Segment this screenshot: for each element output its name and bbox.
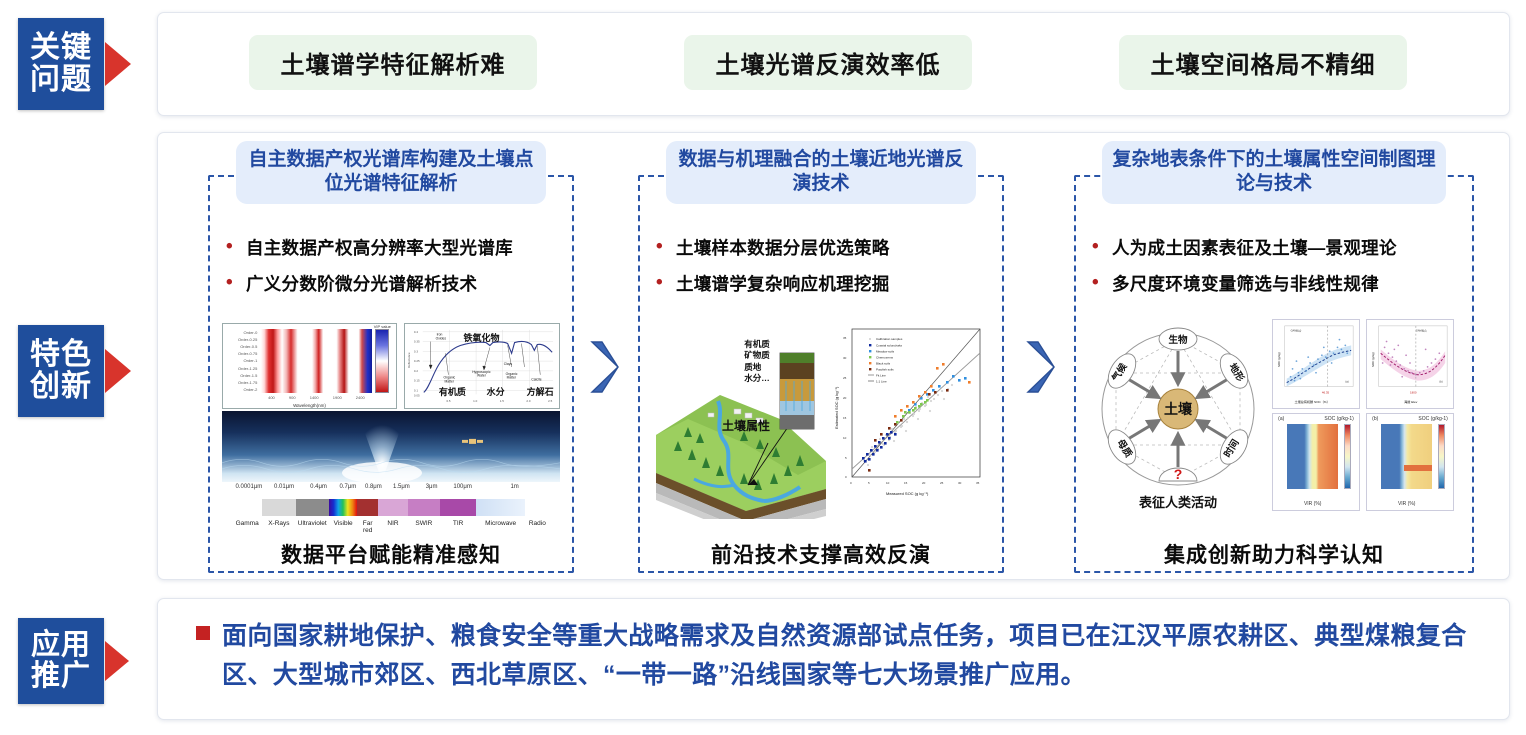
spectrum-annotation-organic-cn: 有机质 — [439, 385, 466, 398]
landscape-block-figure: 有机质 矿物质 质地 水分… 土壤属性 — [648, 323, 833, 519]
svg-text:25: 25 — [843, 376, 847, 380]
key-problem-pill-1[interactable]: 土壤谱学特征解析难 — [249, 35, 537, 90]
key-problem-label-2: 土壤光谱反演效率低 — [716, 45, 941, 80]
svg-text:Black soils: Black soils — [876, 361, 891, 365]
vip-x-ticks: 400900140019002400 — [261, 393, 372, 402]
innovation-column-2: 数据与机理融合的土壤近地光谱反演技术 • 土壤样本数据分层优选策略 • 土壤谱学… — [638, 141, 1004, 573]
svg-text:GAM拟合: GAM拟合 — [1291, 329, 1302, 333]
heatmap-left-tag: (a) — [1278, 416, 1284, 422]
svg-text:(b): (b) — [1439, 380, 1442, 384]
rail-innovation-box: 特色 创新 — [18, 325, 104, 417]
svg-text:SOC (g/kg): SOC (g/kg) — [1277, 352, 1281, 367]
gam-left-svg: 46.35 (a) GAM拟合 土壤总有机碳 SOC（%） SOC (g/kg) — [1273, 320, 1359, 408]
heatmap-right-xlabel: VIR (%) — [1398, 501, 1416, 507]
innovation-card: 自主数据产权光谱库构建及土壤点位光谱特征解析 • 自主数据产权高分辨率大型光谱库… — [157, 132, 1510, 580]
svg-text:35: 35 — [976, 481, 980, 485]
svg-text:1.0: 1.0 — [473, 399, 477, 403]
gam-plot-right: 1800 (b) GAM拟合 海拔 Elev SOC (g/kg) — [1366, 319, 1454, 409]
vip-y-ticks: Order-0Order-0.25Order-0.5Order-0.75 Ord… — [226, 329, 259, 393]
application-card: 面向国家耕地保护、粮食安全等重大战略需求及自然资源部试点任务，项目已在江汉平原农… — [157, 598, 1510, 720]
svg-text:1800: 1800 — [1410, 390, 1417, 394]
svg-text:GAM拟合: GAM拟合 — [1416, 329, 1427, 333]
svg-text:30: 30 — [958, 481, 962, 485]
spectrum-annotation-water-cn: 水分 — [487, 385, 505, 398]
svg-text:0: 0 — [850, 481, 852, 485]
bullet-dot-icon: • — [656, 237, 663, 256]
soc-heatmap-left: SOC (g/kg-1) (a) VIR (%) — [1272, 413, 1360, 511]
column-1-footer: 数据平台赋能精准感知 — [216, 539, 566, 569]
svg-text:Calcite: Calcite — [531, 378, 541, 382]
hex-caption: 表征人类活动 — [1138, 495, 1217, 510]
column-1-bullet-2: • 广义分数阶微分光谱解析技术 — [226, 271, 560, 296]
rail-application-line2: 推广 — [31, 661, 91, 692]
svg-text:Calibration samples: Calibration samples — [876, 337, 903, 341]
em-color-band — [232, 499, 550, 516]
rail-innovation: 特色 创新 — [18, 325, 131, 417]
heatmap-left-xlabel: VIR (%) — [1304, 501, 1322, 507]
heatmap-right-cb-label: SOC (g/kg-1) — [1418, 416, 1447, 422]
soil-core-label-2: 矿物质 — [744, 350, 770, 361]
svg-text:Oxides: Oxides — [436, 337, 447, 341]
column-3-bullet-text-2: 多尺度环境变量筛选与非线性规律 — [1112, 271, 1379, 296]
svg-text:46.35: 46.35 — [1322, 390, 1330, 394]
svg-text:Clays: Clays — [504, 362, 513, 366]
innovation-column-1: 自主数据产权光谱库构建及土壤点位光谱特征解析 • 自主数据产权高分辨率大型光谱库… — [208, 141, 574, 573]
rail-innovation-line2: 创新 — [30, 371, 92, 403]
slide-root: 关键 问题 土壤谱学特征解析难 土壤光谱反演效率低 土壤空间格局不精细 特色 创… — [0, 0, 1526, 735]
spectrum-annotation-calcite-cn: 方解石 — [527, 385, 554, 398]
promotion-text: 面向国家耕地保护、粮食安全等重大战略需求及自然资源部试点任务，项目已在江汉平原农… — [222, 617, 1483, 695]
svg-text:Chernozems: Chernozems — [876, 355, 894, 359]
chevron-right-icon-2 — [1024, 339, 1058, 395]
bullet-dot-icon: • — [1092, 237, 1099, 256]
svg-text:0: 0 — [845, 475, 847, 479]
svg-text:10: 10 — [886, 481, 890, 485]
svg-text:10: 10 — [843, 436, 847, 440]
svg-text:Matter: Matter — [444, 380, 454, 384]
heatmap-right-tag: (b) — [1372, 416, 1378, 422]
column-1-bullet-1: • 自主数据产权高分辨率大型光谱库 — [226, 235, 560, 260]
svg-text:Reflectance: Reflectance — [407, 352, 411, 368]
gam-right-svg: 1800 (b) GAM拟合 海拔 Elev SOC (g/kg) — [1367, 320, 1453, 408]
arrow-right-icon — [105, 42, 131, 86]
rail-application-line1: 应用 — [31, 630, 91, 661]
svg-text:30: 30 — [843, 356, 847, 360]
promotion-block: 面向国家耕地保护、粮食安全等重大战略需求及自然资源部试点任务，项目已在江汉平原农… — [196, 617, 1483, 695]
bullet-dot-icon: • — [226, 273, 233, 292]
column-2-bullet-2: • 土壤谱学复杂响应机理挖掘 — [656, 271, 990, 296]
heatmap-right-hot-stripe — [1404, 465, 1432, 471]
vip-colorbar — [375, 329, 389, 393]
arrow-right-icon — [105, 641, 129, 681]
key-problem-label-3: 土壤空间格局不精细 — [1151, 45, 1376, 80]
chevron-right-icon-1 — [588, 339, 622, 395]
rail-innovation-line1: 特色 — [30, 339, 92, 371]
bullet-dot-icon: • — [1092, 273, 1099, 292]
svg-text:0.4: 0.4 — [414, 330, 418, 334]
svg-text:0.5: 0.5 — [446, 399, 450, 403]
bullet-dot-icon: • — [226, 237, 233, 256]
bullet-dot-icon: • — [656, 273, 663, 292]
square-bullet-icon — [196, 626, 210, 640]
column-3-bullet-1: • 人为成土因素表征及土壤—景观理论 — [1092, 235, 1460, 260]
svg-text:0.35: 0.35 — [414, 340, 420, 344]
gam-plot-left: 46.35 (a) GAM拟合 土壤总有机碳 SOC（%） SOC (g/kg) — [1272, 319, 1360, 409]
rail-key-problem-box: 关键 问题 — [18, 18, 104, 110]
column-3-bullet-2: • 多尺度环境变量筛选与非线性规律 — [1092, 271, 1460, 296]
column-3-bullet-text-1: 人为成土因素表征及土壤—景观理论 — [1112, 235, 1397, 260]
soil-attribute-label: 土壤属性 — [722, 417, 770, 434]
svg-text:土壤总有机碳 SOC（%）: 土壤总有机碳 SOC（%） — [1295, 399, 1330, 404]
soil-core-label-4: 水分… — [744, 373, 770, 384]
spectrum-annotation-iron-cn: 铁氧化物 — [464, 331, 500, 344]
column-1-title: 自主数据产权光谱库构建及土壤点位光谱特征解析 — [236, 141, 546, 204]
svg-text:0.2: 0.2 — [414, 369, 418, 373]
rail-key-problem-line2: 问题 — [30, 64, 92, 96]
hex-unknown-marker: ? — [1174, 466, 1183, 482]
vip-x-label: Wavelength(nm) — [293, 403, 326, 408]
soil-factor-svg: 土壤 生物 地形 时间 气候 母质 ? 表征人类活动 — [1088, 317, 1268, 517]
svg-text:1:1 Line: 1:1 Line — [876, 379, 887, 383]
heatmap-left-colorbar — [1344, 424, 1351, 489]
svg-text:0.25: 0.25 — [414, 359, 420, 363]
hex-center-label: 土壤 — [1164, 401, 1193, 417]
heatmap-left-plot — [1287, 424, 1339, 489]
svg-text:35: 35 — [843, 336, 847, 340]
column-1-bullet-text-2: 广义分数阶微分光谱解析技术 — [246, 271, 477, 296]
column-2-bullet-text-2: 土壤谱学复杂响应机理挖掘 — [676, 271, 890, 296]
arrow-right-icon — [105, 349, 131, 393]
svg-text:5: 5 — [868, 481, 870, 485]
innovation-column-3: 复杂地表条件下的土壤属性空间制图理论与技术 • 人为成土因素表征及土壤—景观理论… — [1074, 141, 1474, 573]
soc-heatmap-right: SOC (g/kg-1) (b) VIR (%) — [1366, 413, 1454, 511]
svg-text:1.5: 1.5 — [500, 399, 504, 403]
em-wavelength-ticks: 0.0001μm0.01μm0.4μm 0.7μm0.8μm1.5μm 3μm1… — [232, 484, 550, 490]
column-2-bullet-text-1: 土壤样本数据分层优选策略 — [676, 235, 890, 260]
svg-text:海拔 Elev: 海拔 Elev — [1404, 399, 1418, 404]
column-3-footer: 集成创新助力科学认知 — [1082, 539, 1466, 569]
rail-key-problem: 关键 问题 — [18, 18, 131, 110]
svg-text:20: 20 — [843, 396, 847, 400]
heatmap-left-cb-label: SOC (g/kg-1) — [1324, 416, 1353, 422]
svg-text:15: 15 — [843, 416, 847, 420]
rail-key-problem-line1: 关键 — [30, 32, 92, 64]
spectral-curve-figure: IronOxides OrganicMatter HygroscopicWate… — [404, 323, 560, 409]
scatter-x-axis-label: Measured SOC (g kg⁻¹) — [886, 491, 929, 496]
svg-text:SOC (g/kg): SOC (g/kg) — [1371, 352, 1375, 367]
column-2-bullet-1: • 土壤样本数据分层优选策略 — [656, 235, 990, 260]
svg-text:0.15: 0.15 — [414, 379, 420, 383]
scatter-y-axis-label: Estimated SOC (g kg⁻¹) — [834, 386, 839, 429]
vip-heatmap-figure: Order-0Order-0.25Order-0.5Order-0.75 Ord… — [222, 323, 397, 409]
key-problem-pill-2[interactable]: 土壤光谱反演效率低 — [684, 35, 972, 90]
heatmap-right-plot — [1381, 424, 1433, 489]
key-problem-pill-3[interactable]: 土壤空间格局不精细 — [1119, 35, 1407, 90]
svg-text:Meadow soils: Meadow soils — [876, 349, 895, 353]
soil-core-label-list: 有机质 矿物质 质地 水分… — [744, 339, 770, 385]
column-1-bullets: • 自主数据产权高分辨率大型光谱库 • 广义分数阶微分光谱解析技术 — [226, 235, 560, 307]
svg-text:Coastal solonchaks: Coastal solonchaks — [876, 343, 903, 347]
soc-scatter-svg: Calibration samples Coastal solonchaks M… — [828, 319, 993, 519]
column-3-bullets: • 人为成土因素表征及土壤—景观理论 • 多尺度环境变量筛选与非线性规律 — [1092, 235, 1460, 307]
hex-factor-bio: 生物 — [1168, 334, 1188, 346]
svg-text:2.0: 2.0 — [526, 399, 530, 403]
key-problem-label-1: 土壤谱学特征解析难 — [281, 45, 506, 80]
column-3-title: 复杂地表条件下的土壤属性空间制图理论与技术 — [1102, 141, 1446, 204]
svg-text:Purplish soils: Purplish soils — [876, 367, 894, 371]
svg-text:20: 20 — [922, 481, 926, 485]
column-2-footer: 前沿技术支撑高效反演 — [646, 539, 996, 569]
svg-text:25: 25 — [940, 481, 944, 485]
svg-text:2.5: 2.5 — [548, 399, 552, 403]
em-spectrum-figure: 0.0001μm0.01μm0.4μm 0.7μm0.8μm1.5μm 3μm1… — [222, 411, 560, 533]
column-2-title: 数据与机理融合的土壤近地光谱反演技术 — [666, 141, 976, 204]
vip-colorbar-label: VIP value — [374, 324, 391, 329]
soil-core-label-3: 质地 — [744, 362, 770, 373]
key-problem-card: 土壤谱学特征解析难 土壤光谱反演效率低 土壤空间格局不精细 — [157, 12, 1510, 116]
em-band-labels: GammaX-RaysUltraviolet VisibleFar redNIR… — [232, 520, 550, 533]
vip-heatmap-plot — [261, 329, 372, 393]
rail-application-box: 应用 推广 — [18, 618, 104, 704]
column-2-bullets: • 土壤样本数据分层优选策略 • 土壤谱学复杂响应机理挖掘 — [656, 235, 990, 307]
soil-factor-diagram: 土壤 生物 地形 时间 气候 母质 ? 表征人类活动 — [1088, 317, 1268, 517]
svg-text:Matter: Matter — [507, 376, 517, 380]
column-1-bullet-text-1: 自主数据产权高分辨率大型光谱库 — [246, 235, 513, 260]
svg-text:Fit Line: Fit Line — [876, 373, 886, 377]
svg-text:15: 15 — [904, 481, 908, 485]
heatmap-right-colorbar — [1438, 424, 1445, 489]
soc-scatter-figure: Calibration samples Coastal solonchaks M… — [828, 319, 993, 519]
svg-text:0.05: 0.05 — [414, 393, 420, 397]
svg-text:Water: Water — [477, 374, 487, 378]
rail-application: 应用 推广 — [18, 618, 129, 704]
svg-text:0.3: 0.3 — [414, 349, 418, 353]
svg-text:(a): (a) — [1345, 380, 1348, 384]
em-sky-rays — [222, 411, 560, 482]
svg-text:0.1: 0.1 — [414, 388, 418, 392]
soil-core-label-1: 有机质 — [744, 339, 770, 350]
svg-text:5: 5 — [845, 456, 847, 460]
